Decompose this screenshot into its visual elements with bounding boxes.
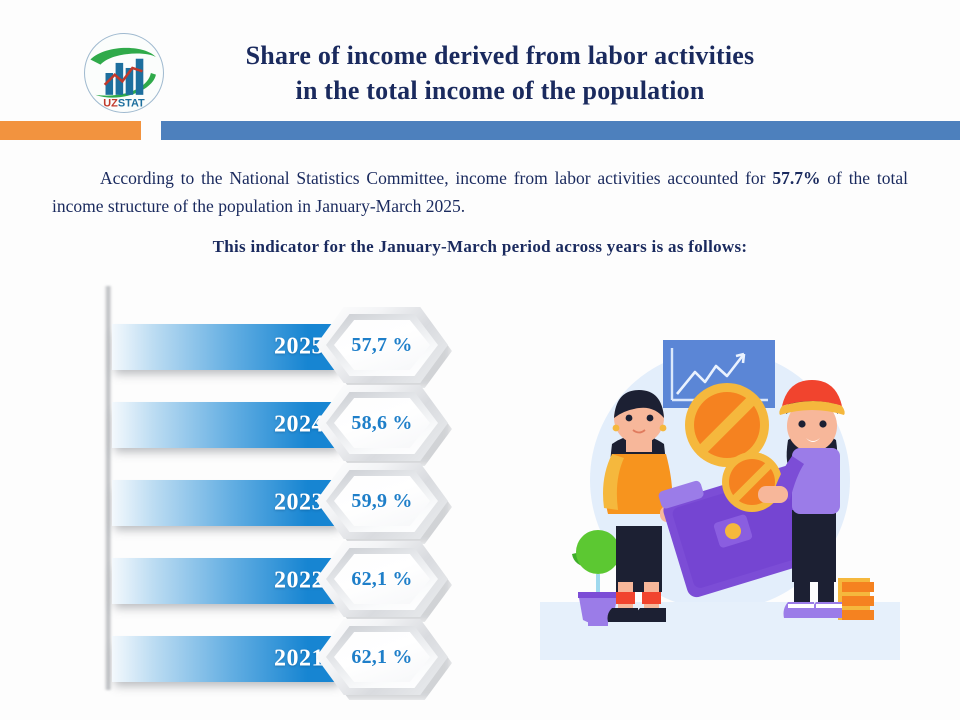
lede-paragraph: According to the National Statistics Com… [52,165,908,220]
chart-row: 2022 62,1 % [96,537,456,615]
chart-row: 2021 62,1 % [96,615,456,693]
subheading: This indicator for the January-March per… [52,237,908,257]
chart-bar: 2025 [112,324,342,370]
lede-text-part-1: According to the National Statistics Com… [100,168,772,188]
title-line-2: in the total income of the population [180,73,820,108]
value-badge: 62,1 % [314,539,456,623]
value-badge: 58,6 % [314,383,456,467]
chart-bar: 2022 [112,558,342,604]
chart-row: 2024 58,6 % [96,381,456,459]
logo-text-stat: STAT [118,98,145,110]
uzstat-logo: UZSTAT [82,31,166,115]
badge-value-label: 58,6 % [351,412,412,435]
badge-inner-hexagon: 57,7 % [334,320,430,370]
accent-rule-orange [0,121,141,140]
badge-value-label: 57,7 % [351,334,412,357]
chart-row: 2025 57,7 % [96,303,456,381]
chart-bar: 2021 [112,636,342,682]
badge-value-label: 62,1 % [351,646,412,669]
coin-stack [838,578,874,620]
value-badge: 62,1 % [314,617,456,701]
year-share-chart: 2025 57,7 % 2024 58,6 % [96,282,456,694]
accent-rule-blue [161,121,960,140]
infographic-page: UZSTAT Share of income derived from labo… [0,0,960,720]
logo-text-uz: UZ [103,98,118,110]
people-with-money-briefcase-illustration [520,330,920,670]
badge-value-label: 62,1 % [351,568,412,591]
badge-value-label: 59,9 % [351,490,412,513]
svg-text:UZSTAT: UZSTAT [103,98,145,110]
badge-inner-hexagon: 58,6 % [334,398,430,448]
badge-inner-hexagon: 62,1 % [334,632,430,682]
page-title: Share of income derived from labor activ… [180,38,820,108]
badge-inner-hexagon: 59,9 % [334,476,430,526]
lede-highlight-value: 57.7% [772,168,820,188]
badge-inner-hexagon: 62,1 % [334,554,430,604]
chart-row: 2023 59,9 % [96,459,456,537]
value-badge: 57,7 % [314,305,456,389]
chart-bar: 2024 [112,402,342,448]
title-line-1: Share of income derived from labor activ… [246,41,755,70]
chart-bar: 2023 [112,480,342,526]
value-badge: 59,9 % [314,461,456,545]
